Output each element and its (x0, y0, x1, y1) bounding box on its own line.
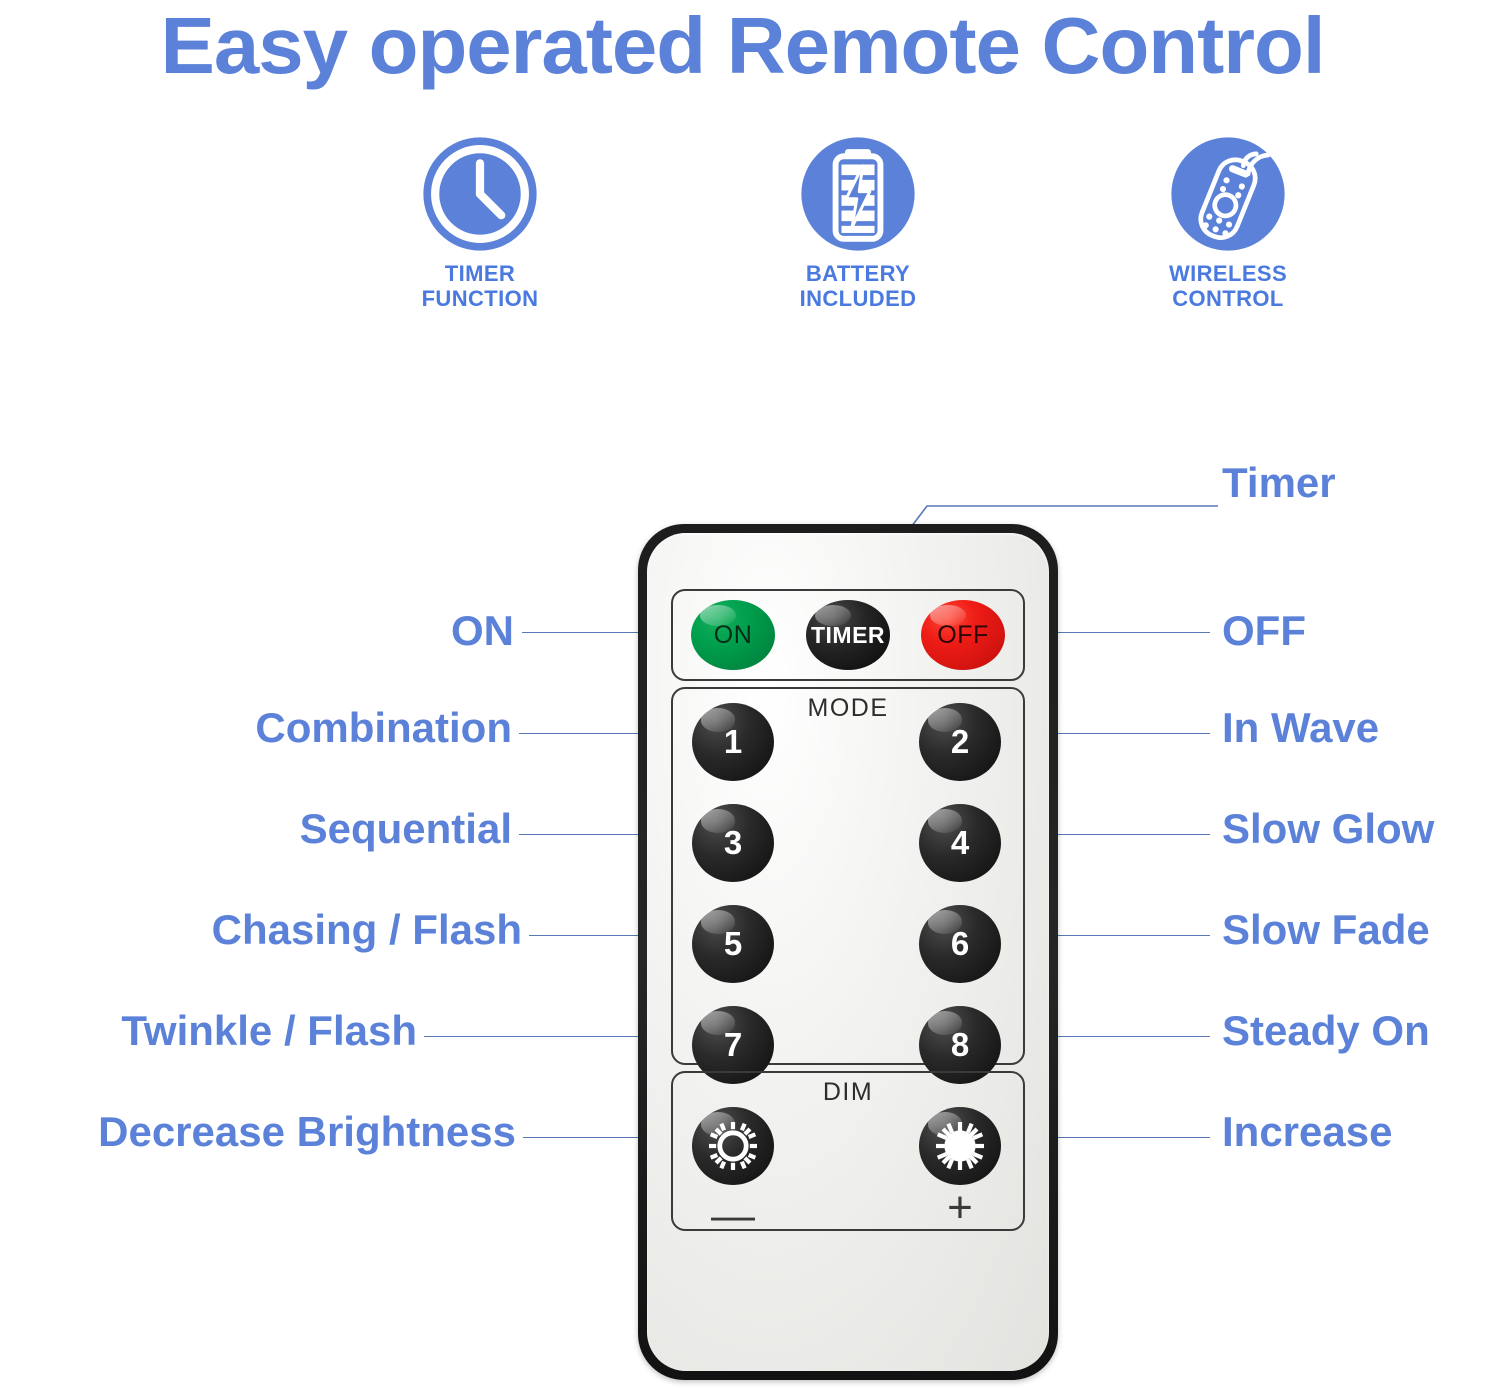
mode-button-2[interactable]: 2 (919, 703, 1001, 781)
mode-button-1-label: 1 (724, 723, 742, 761)
feature-timer-line1: TIMER (330, 261, 630, 286)
on-button[interactable]: ON (691, 600, 775, 670)
feature-timer-function: TIMER FUNCTION (330, 135, 630, 311)
decrease-brightness-button[interactable] (692, 1107, 774, 1185)
feature-battery-line1: BATTERY (708, 261, 1008, 286)
feature-battery-included: BATTERY INCLUDED (708, 135, 1008, 311)
feature-battery-line2: INCLUDED (708, 286, 1008, 311)
mode-button-8-label: 8 (951, 1026, 969, 1064)
increase-brightness-button[interactable] (919, 1107, 1001, 1185)
decrease-sign: — (703, 1201, 763, 1231)
callout-steady-on: Steady On (1222, 1008, 1430, 1054)
feature-wireless-line1: WIRELESS (1078, 261, 1378, 286)
mode-button-3-label: 3 (724, 824, 742, 862)
button-gloss (928, 809, 962, 832)
callout-slow-glow: Slow Glow (1222, 806, 1434, 852)
mode-button-7-label: 7 (724, 1026, 742, 1064)
callout-off: OFF (1222, 608, 1306, 654)
button-gloss (701, 1011, 735, 1034)
mode-button-2-label: 2 (951, 723, 969, 761)
button-gloss (701, 809, 735, 832)
mode-button-1[interactable]: 1 (692, 703, 774, 781)
button-gloss (815, 605, 850, 626)
mode-button-6[interactable]: 6 (919, 905, 1001, 983)
callout-decrease-brightness: Decrease Brightness (10, 1109, 516, 1155)
button-gloss (928, 708, 962, 731)
feature-wireless-line2: CONTROL (1078, 286, 1378, 311)
callout-combination: Combination (190, 705, 512, 751)
button-gloss (701, 708, 735, 731)
mode-button-3[interactable]: 3 (692, 804, 774, 882)
timer-button[interactable]: TIMER (806, 600, 890, 670)
feature-timer-label: TIMER FUNCTION (330, 261, 630, 311)
sun-hollow-icon (703, 1116, 763, 1176)
button-gloss (930, 605, 965, 626)
callout-in-wave: In Wave (1222, 705, 1379, 751)
button-gloss (928, 1011, 962, 1034)
feature-battery-label: BATTERY INCLUDED (708, 261, 1008, 311)
timer-button-label: TIMER (811, 622, 885, 649)
on-button-label: ON (714, 621, 753, 650)
remote-control-device: ON TIMER OFF MODE 1 2 (638, 524, 1058, 1380)
off-button[interactable]: OFF (921, 600, 1005, 670)
increase-sign: + (930, 1193, 990, 1223)
mode-button-5-label: 5 (724, 925, 742, 963)
callout-chasing-flash: Chasing / Flash (120, 907, 522, 953)
feature-wireless-control: WIRELESS CONTROL (1078, 135, 1378, 311)
dim-panel-title: DIM (647, 1078, 1049, 1107)
battery-icon (799, 135, 917, 253)
button-gloss (928, 910, 962, 933)
mode-button-6-label: 6 (951, 925, 969, 963)
sun-filled-icon (930, 1116, 990, 1176)
remote-signal-icon (1169, 135, 1287, 253)
button-gloss (701, 910, 735, 933)
infographic-page: Easy operated Remote Control TIMER FUNCT… (0, 0, 1485, 1388)
callout-slow-fade: Slow Fade (1222, 907, 1430, 953)
remote-faceplate: ON TIMER OFF MODE 1 2 (647, 533, 1049, 1371)
callout-twinkle-flash: Twinkle / Flash (120, 1008, 417, 1054)
mode-button-4[interactable]: 4 (919, 804, 1001, 882)
mode-button-5[interactable]: 5 (692, 905, 774, 983)
callout-increase: Increase (1222, 1109, 1392, 1155)
feature-timer-line2: FUNCTION (330, 286, 630, 311)
button-gloss (700, 605, 735, 626)
mode-button-4-label: 4 (951, 824, 969, 862)
feature-wireless-label: WIRELESS CONTROL (1078, 261, 1378, 311)
off-button-label: OFF (937, 621, 989, 650)
callout-on: ON (252, 608, 514, 654)
page-title: Easy operated Remote Control (0, 2, 1485, 90)
callout-timer: Timer (1222, 460, 1336, 506)
clock-icon (421, 135, 539, 253)
callout-sequential: Sequential (190, 806, 512, 852)
